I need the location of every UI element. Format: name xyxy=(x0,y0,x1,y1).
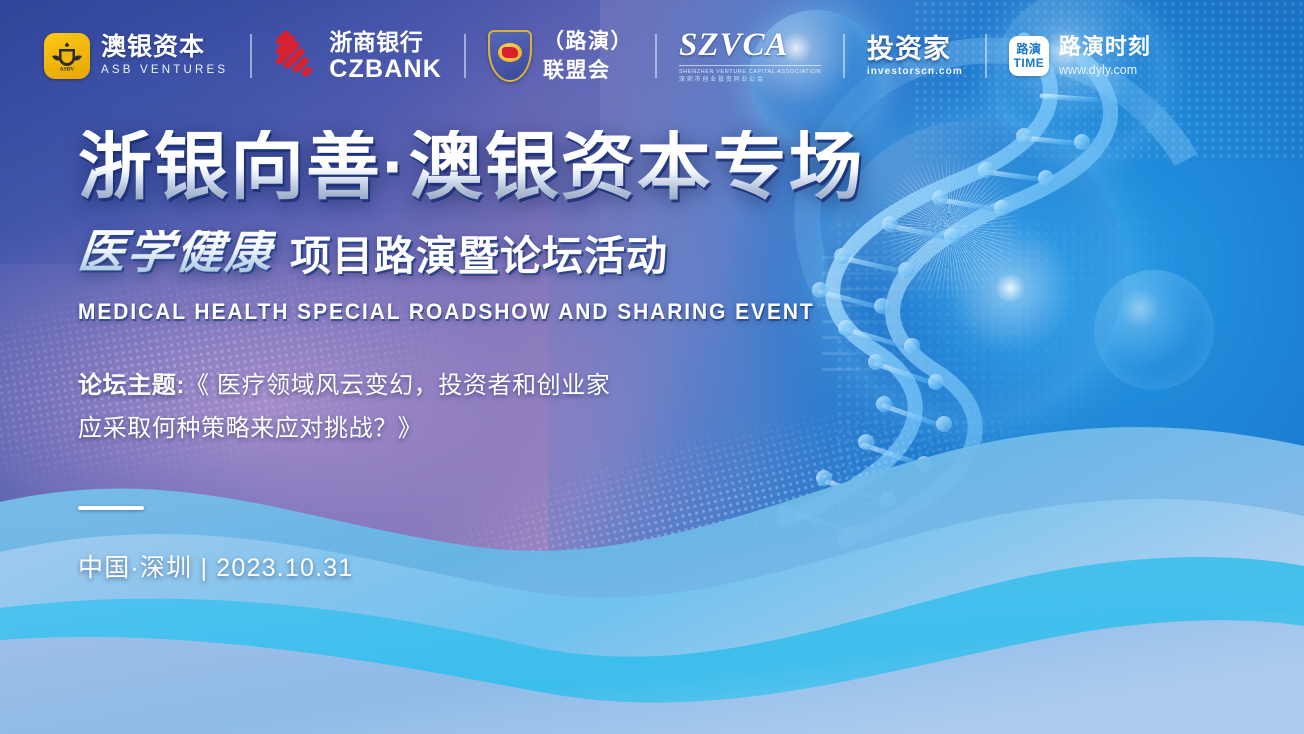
footer-divider xyxy=(78,506,144,510)
forum-theme-text1: 《 医疗领域风云变幻，投资者和创业家 xyxy=(185,372,610,399)
dyly-url: www.dyly.com xyxy=(1059,64,1151,77)
logo-czbank[interactable]: 浙商银行 CZBANK xyxy=(274,31,442,82)
dyly-badge-line1: 路演 xyxy=(1016,43,1041,55)
investorscn-name-cn: 投资家 xyxy=(867,36,963,63)
forum-theme-label: 论坛主题: xyxy=(78,372,185,399)
dyly-badge-icon: 路演 TIME xyxy=(1009,36,1049,76)
china-map-icon xyxy=(498,43,522,62)
logo-szvca[interactable]: SZVCA SHENZHEN VENTURE CAPITAL ASSOCIATI… xyxy=(679,29,821,84)
logo-dyly[interactable]: 路演 TIME 路演时刻 www.dyly.com xyxy=(1009,36,1151,77)
asb-crest-icon: ASBV xyxy=(44,33,90,79)
shield-emblem-icon xyxy=(488,30,532,82)
dyly-badge-line2: TIME xyxy=(1014,57,1045,69)
event-poster: ASBV 澳银资本 ASB VENTURES 浙商银行 CZBANK xyxy=(0,0,1304,734)
asb-name-cn: 澳银资本 xyxy=(101,35,228,60)
logo-asb-ventures[interactable]: ASBV 澳银资本 ASB VENTURES xyxy=(44,33,228,79)
czbank-name-en: CZBANK xyxy=(329,57,442,82)
alliance-line2: 联盟会 xyxy=(543,59,633,83)
logo-divider xyxy=(985,34,987,78)
logo-roadshow-alliance[interactable]: （路演） 联盟会 xyxy=(488,30,633,82)
place-and-date: 中国·深圳 | 2023.10.31 xyxy=(78,548,870,584)
asb-badge-text: ASBV xyxy=(60,67,74,73)
poster-content: 浙银向善·澳银资本专场 医学健康 项目路演暨论坛活动 MEDICAL HEALT… xyxy=(78,130,870,584)
forum-theme-block: 论坛主题:《 医疗领域风云变幻，投资者和创业家 应采取何种策略来应对挑战？》 xyxy=(78,365,870,450)
poster-subtitle-english: MEDICAL HEALTH SPECIAL ROADSHOW AND SHAR… xyxy=(78,299,815,325)
logo-divider xyxy=(464,34,466,78)
alliance-line1: （路演） xyxy=(543,30,633,54)
forum-theme-line2: 应采取何种策略来应对挑战？》 xyxy=(78,408,870,451)
logo-divider xyxy=(250,34,252,78)
asb-name-en: ASB VENTURES xyxy=(101,65,228,77)
logo-investorscn[interactable]: 投资家 investorscn.com xyxy=(867,36,963,77)
asb-text-block: 澳银资本 ASB VENTURES xyxy=(101,35,228,77)
czbank-text-block: 浙商银行 CZBANK xyxy=(329,31,442,82)
forum-theme-line1: 论坛主题:《 医疗领域风云变幻，投资者和创业家 xyxy=(78,365,870,408)
subtitle-calligraphic: 医学健康 xyxy=(76,230,277,277)
szvca-name: SZVCA xyxy=(679,29,821,62)
szvca-rule xyxy=(679,65,821,66)
poster-title: 浙银向善·澳银资本专场 xyxy=(78,130,870,204)
dyly-name-cn: 路演时刻 xyxy=(1059,36,1151,58)
logo-divider xyxy=(655,34,657,78)
investorscn-name-en: investorscn.com xyxy=(867,67,963,77)
sponsor-logo-bar: ASBV 澳银资本 ASB VENTURES 浙商银行 CZBANK xyxy=(0,0,1304,112)
logo-divider xyxy=(843,34,845,78)
alliance-text-block: （路演） 联盟会 xyxy=(543,30,633,82)
dyly-text-block: 路演时刻 www.dyly.com xyxy=(1059,36,1151,77)
poster-subtitle-row: 医学健康 项目路演暨论坛活动 xyxy=(78,230,870,277)
szvca-sub-en: SHENZHEN VENTURE CAPITAL ASSOCIATION xyxy=(679,70,821,76)
czbank-stripes-icon xyxy=(274,34,318,78)
czbank-name-cn: 浙商银行 xyxy=(329,31,442,54)
subtitle-rest: 项目路演暨论坛活动 xyxy=(290,236,668,277)
szvca-sub-cn: 深圳市创业投资同业公会 xyxy=(679,77,821,83)
eagle-crest-icon: ASBV xyxy=(50,39,84,73)
